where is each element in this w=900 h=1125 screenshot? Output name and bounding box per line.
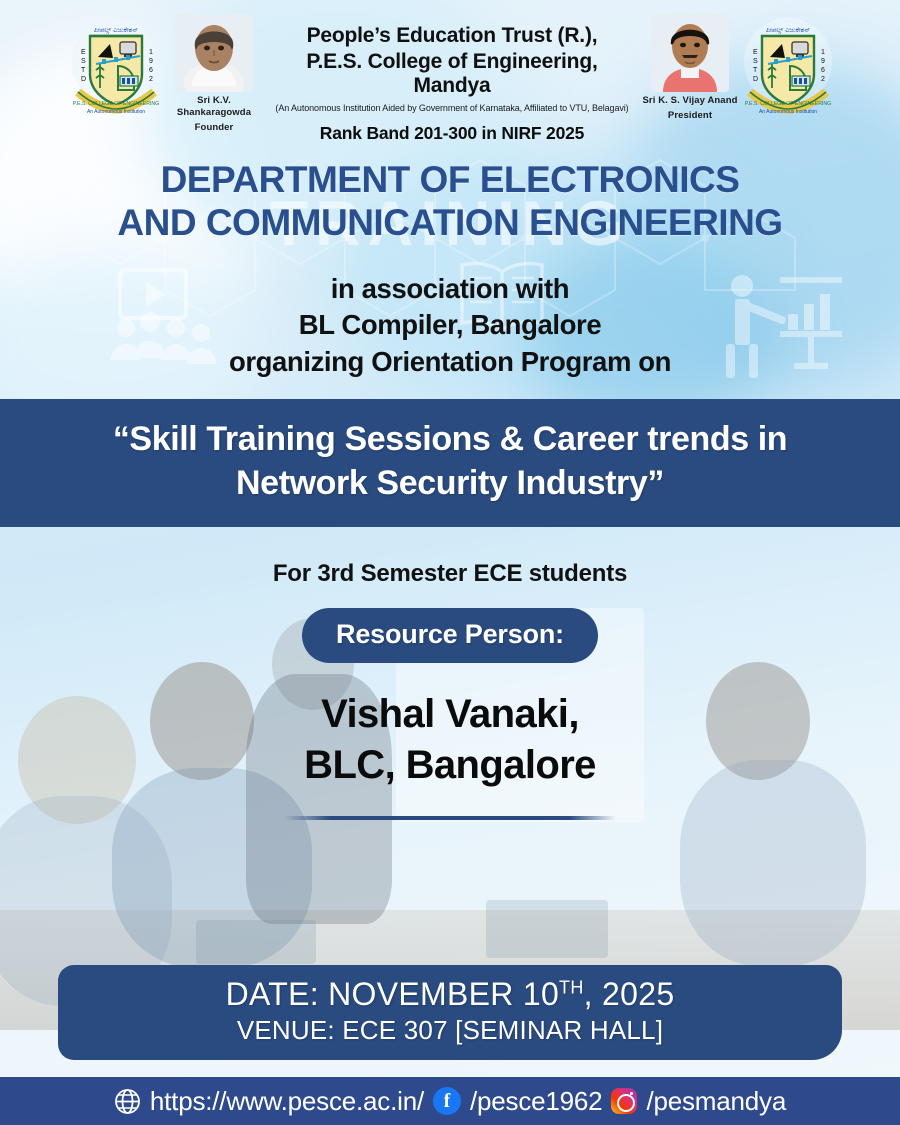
svg-text:An Autonomous Institution: An Autonomous Institution [759,109,817,115]
president-portrait-photo [651,14,729,92]
event-date-ordinal-suffix: TH [559,977,584,997]
trust-name-line1: People’s Education Trust (R.), [266,24,638,48]
svg-text:2: 2 [149,76,153,83]
resource-person-section: Resource Person: [0,608,900,663]
footer-bar: https://www.pesce.ac.in/ f /pesce1962 /p… [0,1077,900,1125]
college-crest-logo-left: ಪೀಪಲ್ಸ್ ಎಜುಕೇಶನ್ E S T D 1 9 6 2 [70,12,162,116]
event-date: DATE: NOVEMBER 10TH, 2025 [78,976,822,1013]
resource-person-name-line1: Vishal Vanaki, [0,689,900,739]
svg-text:T: T [753,67,758,74]
svg-text:S: S [81,58,86,65]
event-details-box: DATE: NOVEMBER 10TH, 2025 VENUE: ECE 307… [58,965,842,1060]
globe-icon [114,1088,141,1115]
poster-canvas: TRAINING [0,0,900,1125]
president-block: Sri K. S. Vijay Anand President [638,12,742,122]
svg-text:1: 1 [149,49,153,56]
instagram-icon[interactable] [611,1088,637,1114]
event-title-line2: Network Security Industry” [46,462,854,506]
department-title-line2: AND COMMUNICATION ENGINEERING [0,201,900,244]
svg-text:S: S [753,58,758,65]
institution-titles: People’s Education Trust (R.), P.E.S. Co… [266,12,638,144]
svg-text:E: E [81,49,86,56]
section-divider [284,816,616,820]
poster-header: ಪೀಪಲ್ಸ್ ಎಜುಕೇಶನ್ E S T D 1 9 6 2 [0,0,900,132]
founder-name: Sri K.V. Shankaragowda [162,95,266,119]
resource-person-name: Vishal Vanaki, BLC, Bangalore [0,689,900,790]
svg-text:P.E.S. COLLEGE OF ENGINEERING: P.E.S. COLLEGE OF ENGINEERING [73,101,159,107]
resource-person-name-line2: BLC, Bangalore [0,740,900,790]
svg-text:6: 6 [149,67,153,74]
svg-text:6: 6 [821,67,825,74]
svg-text:D: D [753,76,758,83]
department-title: DEPARTMENT OF ELECTRONICS AND COMMUNICAT… [0,158,900,245]
association-line2: BL Compiler, Bangalore [0,307,900,344]
svg-text:D: D [81,76,86,83]
president-name: Sri K. S. Vijay Anand [638,95,742,107]
instagram-handle[interactable]: /pesmandya [646,1086,786,1117]
event-venue: VENUE: ECE 307 [SEMINAR HALL] [78,1015,822,1046]
association-line3: organizing Orientation Program on [0,344,900,381]
college-crest-logo-right: ಪೀಪಲ್ಸ್ ಎಜುಕೇಶನ್ E S T D 1 9 6 2 [742,12,834,116]
facebook-handle[interactable]: /pesce1962 [470,1086,602,1117]
svg-text:P.E.S. COLLEGE OF ENGINEERING: P.E.S. COLLEGE OF ENGINEERING [745,101,831,107]
event-date-year: , 2025 [584,976,675,1012]
president-designation: President [638,110,742,122]
founder-portrait-photo [175,14,253,92]
svg-text:ಪೀಪಲ್ಸ್ ಎಜುಕೇಶನ್: ಪೀಪಲ್ಸ್ ಎಜುಕೇಶನ್ [94,26,139,34]
association-line1: in association with [0,271,900,308]
event-title-line1: “Skill Training Sessions & Career trends… [46,418,854,462]
facebook-icon[interactable]: f [433,1087,461,1115]
website-url[interactable]: https://www.pesce.ac.in/ [150,1086,424,1117]
event-date-prefix: DATE: NOVEMBER 10 [226,976,559,1012]
svg-text:ಪೀಪಲ್ಸ್ ಎಜುಕೇಶನ್: ಪೀಪಲ್ಸ್ ಎಜುಕೇಶನ್ [766,26,811,34]
svg-text:T: T [81,67,86,74]
svg-text:E: E [753,49,758,56]
resource-person-label-pill: Resource Person: [302,608,598,663]
association-block: in association with BL Compiler, Bangalo… [0,271,900,381]
event-title-banner: “Skill Training Sessions & Career trends… [0,399,900,527]
college-name-line: P.E.S. College of Engineering, Mandya [266,50,638,98]
founder-designation: Founder [162,122,266,134]
svg-text:2: 2 [821,76,825,83]
autonomous-note: (An Autonomous Institution Aided by Gove… [266,103,638,113]
founder-block: Sri K.V. Shankaragowda Founder [162,12,266,134]
nirf-rank-band: Rank Band 201-300 in NIRF 2025 [266,123,638,144]
svg-text:1: 1 [821,49,825,56]
svg-text:9: 9 [821,58,825,65]
target-audience-text: For 3rd Semester ECE students [0,560,900,588]
svg-text:An Autonomous Institution: An Autonomous Institution [87,109,145,115]
svg-text:9: 9 [149,58,153,65]
department-title-line1: DEPARTMENT OF ELECTRONICS [0,158,900,201]
